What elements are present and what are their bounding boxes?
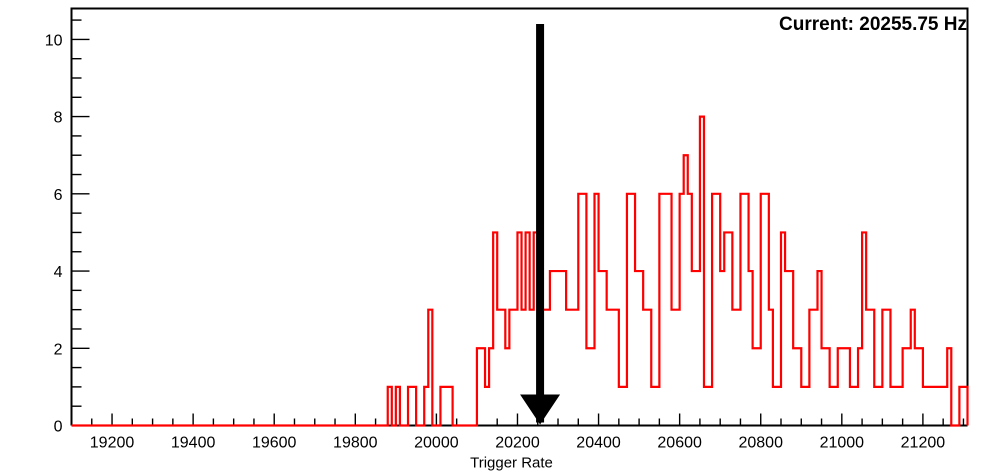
y-tick-label: 0: [54, 419, 63, 436]
x-tick-label: 20400: [576, 435, 621, 452]
histogram-outline: [72, 117, 968, 426]
x-tick-label: 20600: [657, 435, 702, 452]
x-tick-label: 21000: [820, 435, 865, 452]
y-tick-label: 4: [54, 264, 63, 281]
x-tick-label: 21200: [901, 435, 946, 452]
x-axis-title: Trigger Rate: [470, 455, 553, 472]
trigger-rate-plot-panel: 1920019400196001980020000202002040020600…: [0, 0, 996, 472]
x-axis-tick-labels: 1920019400196001980020000202002040020600…: [90, 435, 945, 452]
x-tick-label: 20000: [414, 435, 459, 452]
x-tick-label: 19400: [171, 435, 216, 452]
plot-canvas: 1920019400196001980020000202002040020600…: [0, 0, 996, 472]
y-axis-minor-ticks: [72, 20, 90, 425]
x-tick-label: 20200: [495, 435, 540, 452]
y-axis-tick-labels: 0246810: [45, 32, 63, 435]
y-tick-label: 10: [45, 32, 63, 49]
plot-frame: [72, 9, 968, 426]
x-axis-minor-ticks: [72, 414, 964, 426]
x-tick-label: 19600: [252, 435, 297, 452]
current-rate-arrow: [520, 24, 560, 425]
x-tick-label: 19200: [90, 435, 135, 452]
arrow-head: [520, 395, 560, 425]
current-rate-readout: Current: 20255.75 Hz: [779, 15, 967, 34]
y-tick-label: 8: [54, 110, 63, 127]
x-tick-label: 20800: [738, 435, 783, 452]
x-tick-label: 19800: [333, 435, 378, 452]
y-tick-label: 2: [54, 341, 63, 358]
y-tick-label: 6: [54, 187, 63, 204]
